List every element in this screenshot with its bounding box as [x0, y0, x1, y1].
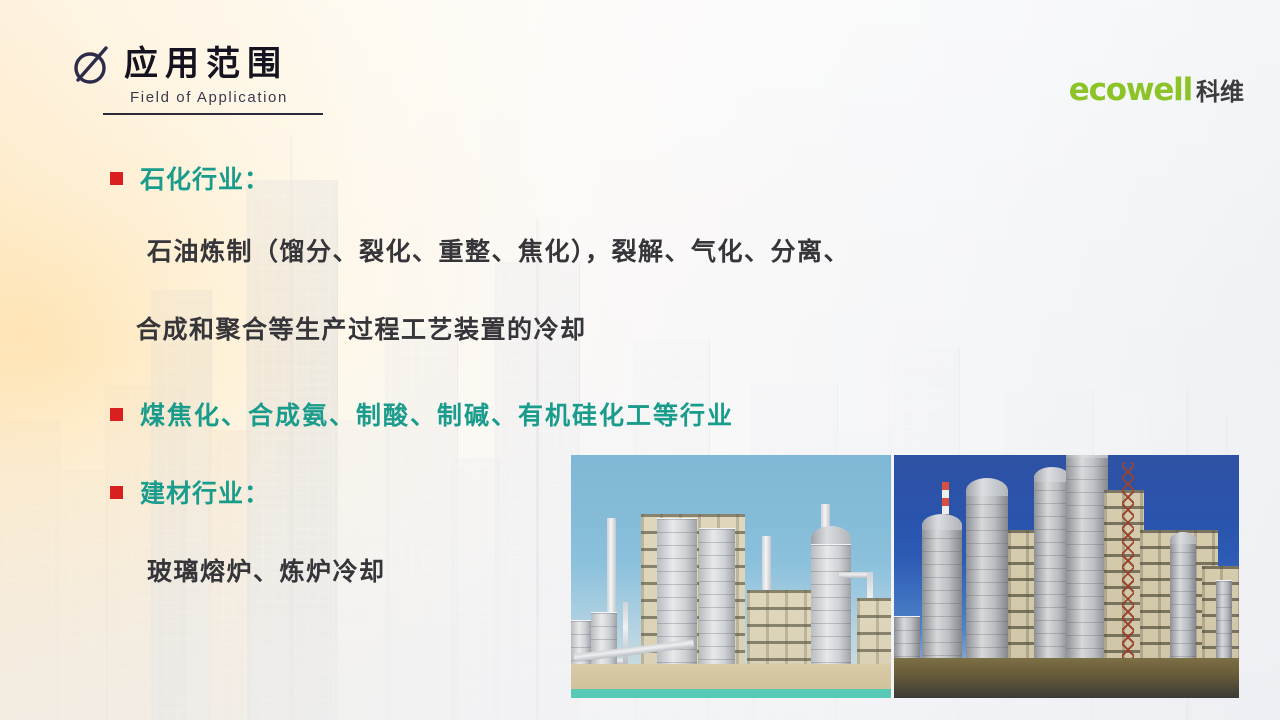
slide-canvas: 应用范围 Field of Application ecowell 科维 石化行… [0, 0, 1280, 720]
list-item: 玻璃熔炉、炼炉冷却 [147, 552, 386, 588]
list-item-label: 石化行业： [140, 160, 270, 196]
industrial-plant-photo [894, 455, 1239, 698]
list-item-label: 合成和聚合等生产过程工艺装置的冷却 [136, 310, 587, 346]
red-square-bullet-icon [110, 408, 123, 421]
list-item: 煤焦化、合成氨、制酸、制碱、有机硅化工等行业 [110, 396, 734, 432]
red-square-bullet-icon [110, 486, 123, 499]
list-item: 合成和聚合等生产过程工艺装置的冷却 [136, 310, 587, 346]
list-item-label: 建材行业： [140, 474, 270, 510]
petrochemical-refinery-photo [571, 455, 891, 698]
list-item-label: 玻璃熔炉、炼炉冷却 [147, 552, 386, 588]
list-item: 建材行业： [110, 474, 270, 510]
list-item-label: 煤焦化、合成氨、制酸、制碱、有机硅化工等行业 [140, 396, 734, 432]
red-square-bullet-icon [110, 172, 123, 185]
list-item: 石油炼制（馏分、裂化、重整、焦化），裂解、气化、分离、 [147, 232, 850, 268]
list-item-label: 石油炼制（馏分、裂化、重整、焦化），裂解、气化、分离、 [147, 232, 850, 268]
list-item: 石化行业： [110, 160, 270, 196]
